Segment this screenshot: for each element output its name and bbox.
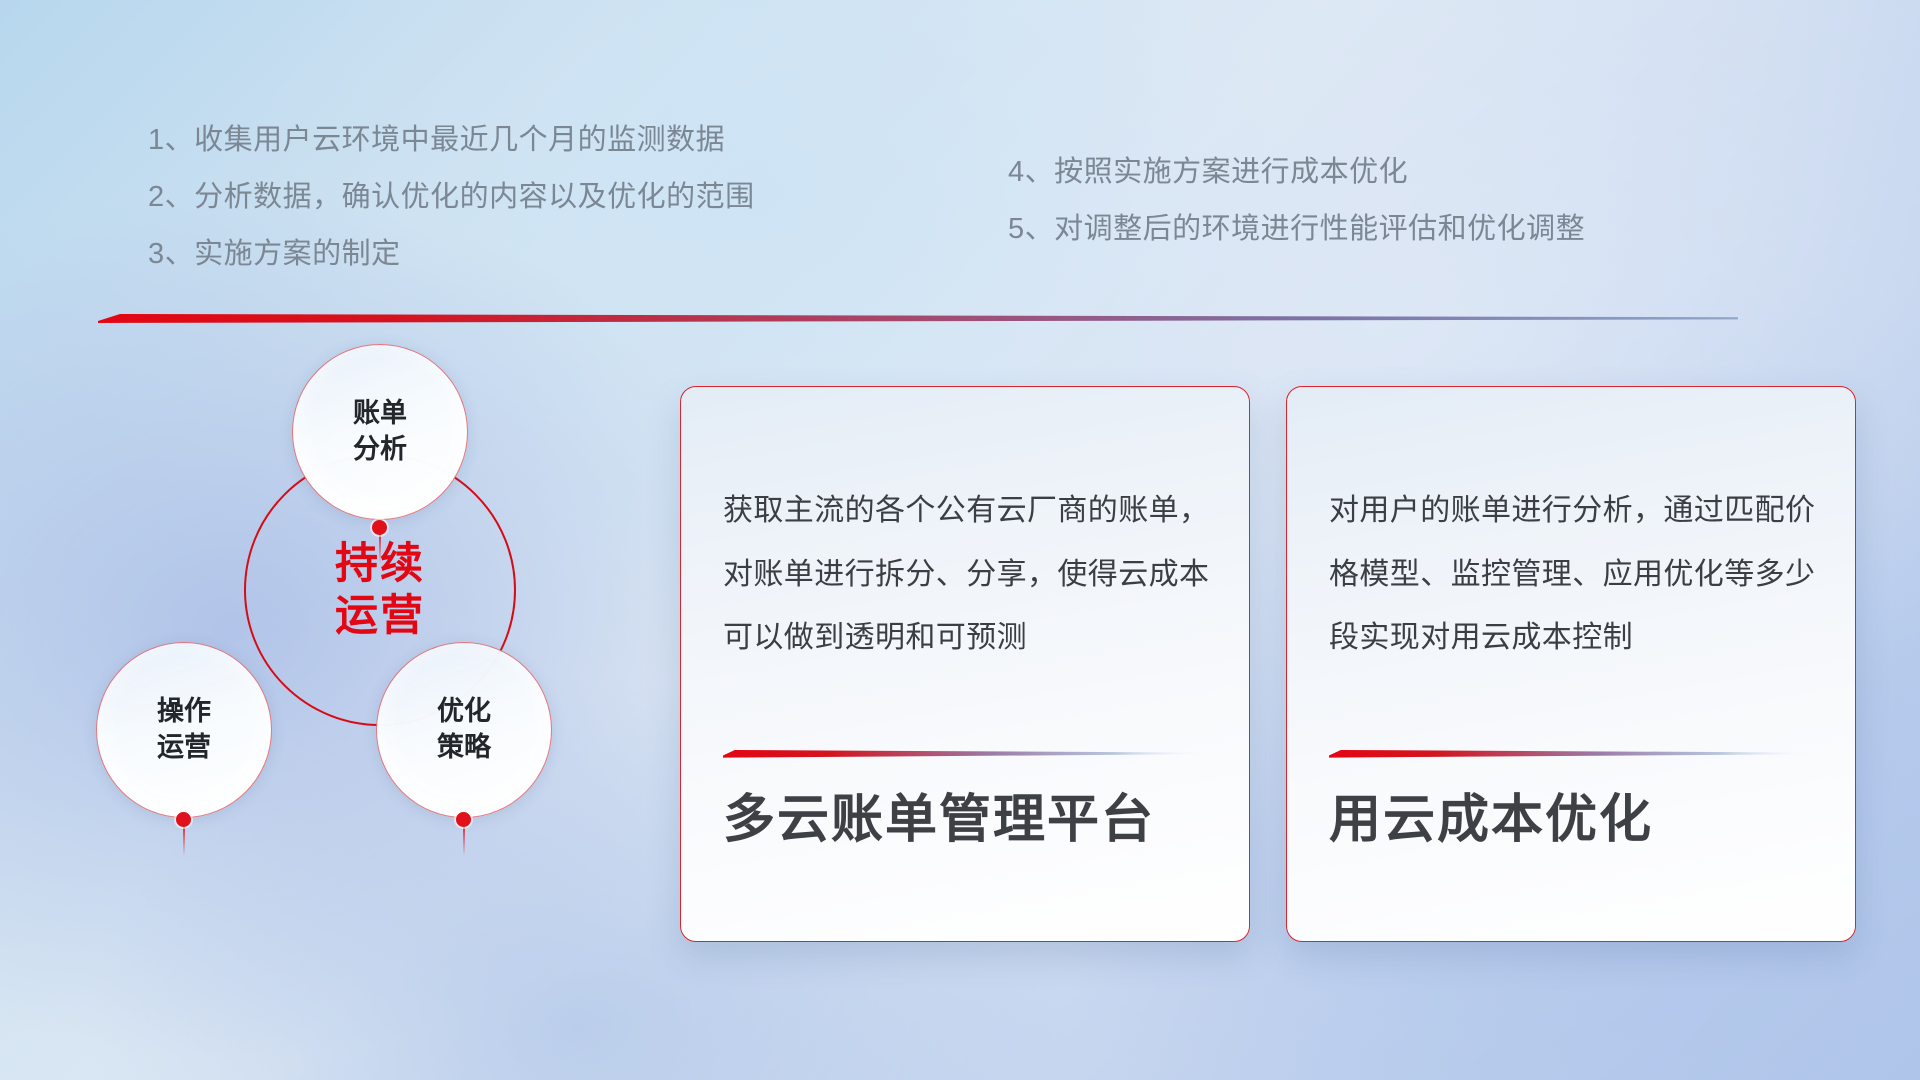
feature-card-1-title: 多云账单管理平台 bbox=[723, 791, 1225, 851]
venn-marker-tail-right bbox=[463, 826, 465, 856]
venn-marker-tail-top bbox=[379, 534, 381, 564]
steps-list-left: 1、收集用户云环境中最近几个月的监测数据 2、分析数据，确认优化的内容以及优化的… bbox=[148, 126, 755, 297]
step-item-1: 1、收集用户云环境中最近几个月的监测数据 bbox=[148, 126, 755, 155]
feature-card-1-rule bbox=[723, 745, 1213, 754]
venn-lobe-right-line-2: 策略 bbox=[437, 730, 491, 766]
feature-card-2-body: 对用户的账单进行分析，通过匹配价格模型、监控管理、应用优化等多少段实现对用云成本… bbox=[1329, 479, 1825, 670]
feature-card-cloud-cost-optimization[interactable]: 对用户的账单进行分析，通过匹配价格模型、监控管理、应用优化等多少段实现对用云成本… bbox=[1286, 386, 1856, 942]
feature-card-1-body: 获取主流的各个公有云厂商的账单，对账单进行拆分、分享，使得云成本可以做到透明和可… bbox=[723, 479, 1219, 670]
step-item-2: 2、分析数据，确认优化的内容以及优化的范围 bbox=[148, 183, 755, 212]
venn-lobe-top-line-2: 分析 bbox=[353, 432, 407, 468]
steps-list-right: 4、按照实施方案进行成本优化 5、对调整后的环境进行性能评估和优化调整 bbox=[1008, 158, 1585, 272]
venn-marker-dot-top bbox=[372, 520, 387, 535]
venn-center-line-2: 运营 bbox=[335, 590, 425, 642]
section-divider bbox=[98, 310, 1738, 326]
venn-lobe-left-line-1: 操作 bbox=[157, 694, 211, 730]
venn-marker-dot-right bbox=[456, 812, 471, 827]
feature-card-multicloud-billing[interactable]: 获取主流的各个公有云厂商的账单，对账单进行拆分、分享，使得云成本可以做到透明和可… bbox=[680, 386, 1250, 942]
feature-card-2-rule bbox=[1329, 745, 1819, 754]
venn-diagram: 持续 运营 账单 分析 操作 运营 优化 策略 bbox=[96, 352, 616, 952]
venn-lobe-optimization-strategy[interactable]: 优化 策略 bbox=[376, 642, 552, 818]
slide-canvas: 1、收集用户云环境中最近几个月的监测数据 2、分析数据，确认优化的内容以及优化的… bbox=[0, 0, 1920, 1080]
venn-lobe-top-line-1: 账单 bbox=[353, 396, 407, 432]
venn-marker-dot-left bbox=[176, 812, 191, 827]
venn-lobe-operations[interactable]: 操作 运营 bbox=[96, 642, 272, 818]
feature-card-2-title: 用云成本优化 bbox=[1329, 791, 1831, 851]
step-item-3: 3、实施方案的制定 bbox=[148, 240, 755, 269]
venn-lobe-billing-analysis[interactable]: 账单 分析 bbox=[292, 344, 468, 520]
venn-lobe-right-line-1: 优化 bbox=[437, 694, 491, 730]
step-item-5: 5、对调整后的环境进行性能评估和优化调整 bbox=[1008, 215, 1585, 244]
venn-marker-tail-left bbox=[183, 826, 185, 856]
step-item-4: 4、按照实施方案进行成本优化 bbox=[1008, 158, 1585, 187]
venn-lobe-left-line-2: 运营 bbox=[157, 730, 211, 766]
